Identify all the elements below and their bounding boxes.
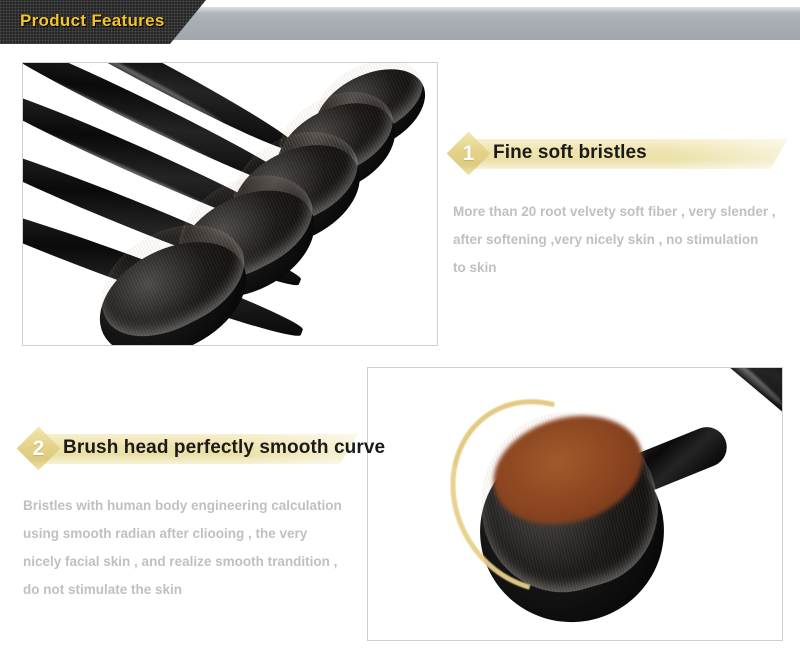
feature-body-2: Bristles with human body engineering cal…	[23, 492, 363, 604]
product-photo-brushes-row	[22, 62, 438, 346]
product-photo-brush-closeup	[367, 367, 783, 641]
page-title: Product Features	[20, 11, 165, 31]
photo-scene-brush-closeup	[368, 368, 782, 640]
feature-body-1: More than 20 root velvety soft fiber , v…	[453, 198, 783, 282]
feature-title-1: Fine soft bristles	[493, 142, 647, 164]
product-features-page: Product Features	[0, 0, 800, 656]
page-header: Product Features	[0, 0, 800, 44]
photo-scene-brushes-row	[23, 63, 437, 345]
feature-number-2: 2	[23, 433, 54, 464]
feature-heading-2: 2 Brush head perfectly smooth curve	[15, 426, 360, 468]
feature-title-2: Brush head perfectly smooth curve	[63, 437, 385, 459]
feature-heading-1: 1 Fine soft bristles	[445, 131, 790, 173]
ribbon-fade	[668, 139, 788, 169]
feature-number-1: 1	[453, 138, 484, 169]
